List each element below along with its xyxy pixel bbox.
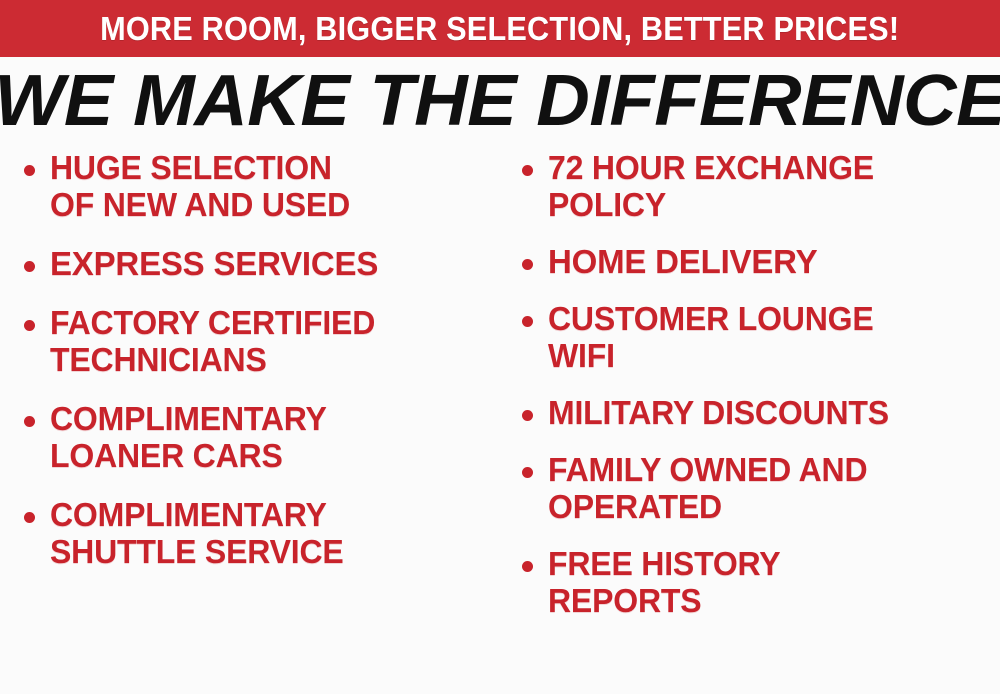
bullet-dot-icon [522, 410, 533, 421]
bullet-dot-icon [24, 320, 35, 331]
bullet-dot-icon [24, 165, 35, 176]
list-item-label: HOME DELIVERY [548, 244, 998, 281]
top-banner-headline: MORE ROOM, BIGGER SELECTION, BETTER PRIC… [100, 12, 899, 45]
list-item-label: COMPLIMENTARY SHUTTLE SERVICE [50, 497, 483, 571]
list-item-label: MILITARY DISCOUNTS [548, 395, 985, 432]
list-item-label: EXPRESS SERVICES [50, 246, 496, 283]
benefits-column-left: HUGE SELECTION OF NEW AND USED EXPRESS S… [0, 150, 500, 593]
list-item: FREE HISTORY REPORTS [514, 546, 998, 620]
top-banner: MORE ROOM, BIGGER SELECTION, BETTER PRIC… [0, 0, 1000, 57]
list-item-label: FAMILY OWNED AND OPERATED [548, 452, 985, 526]
list-item-label: 72 HOUR EXCHANGE POLICY [548, 150, 985, 224]
list-item: HUGE SELECTION OF NEW AND USED [16, 150, 496, 224]
list-item: COMPLIMENTARY SHUTTLE SERVICE [16, 497, 496, 571]
bullet-dot-icon [522, 259, 533, 270]
bullet-dot-icon [24, 416, 35, 427]
list-item-label: CUSTOMER LOUNGE WIFI [548, 301, 985, 375]
benefits-column-right: 72 HOUR EXCHANGE POLICY HOME DELIVERY CU… [500, 150, 1000, 640]
benefits-columns: HUGE SELECTION OF NEW AND USED EXPRESS S… [0, 150, 1000, 694]
bullet-dot-icon [522, 316, 533, 327]
dealership-promo-banner: MORE ROOM, BIGGER SELECTION, BETTER PRIC… [0, 0, 1000, 694]
bullet-dot-icon [522, 165, 533, 176]
list-item: FACTORY CERTIFIED TECHNICIANS [16, 305, 496, 379]
list-item: CUSTOMER LOUNGE WIFI [514, 301, 998, 375]
list-item: MILITARY DISCOUNTS [514, 395, 998, 432]
list-item: FAMILY OWNED AND OPERATED [514, 452, 998, 526]
list-item-label: FACTORY CERTIFIED TECHNICIANS [50, 305, 483, 379]
bullet-dot-icon [24, 261, 35, 272]
main-headline-container: WE MAKE THE DIFFERENCE [0, 62, 1000, 138]
list-item: HOME DELIVERY [514, 244, 998, 281]
list-item-label: COMPLIMENTARY LOANER CARS [50, 401, 483, 475]
bullet-dot-icon [522, 561, 533, 572]
list-item: EXPRESS SERVICES [16, 246, 496, 283]
bullet-dot-icon [24, 512, 35, 523]
list-item: 72 HOUR EXCHANGE POLICY [514, 150, 998, 224]
list-item: COMPLIMENTARY LOANER CARS [16, 401, 496, 475]
main-headline: WE MAKE THE DIFFERENCE [0, 64, 1000, 137]
list-item-label: HUGE SELECTION OF NEW AND USED [50, 150, 483, 224]
bullet-dot-icon [522, 467, 533, 478]
list-item-label: FREE HISTORY REPORTS [548, 546, 985, 620]
